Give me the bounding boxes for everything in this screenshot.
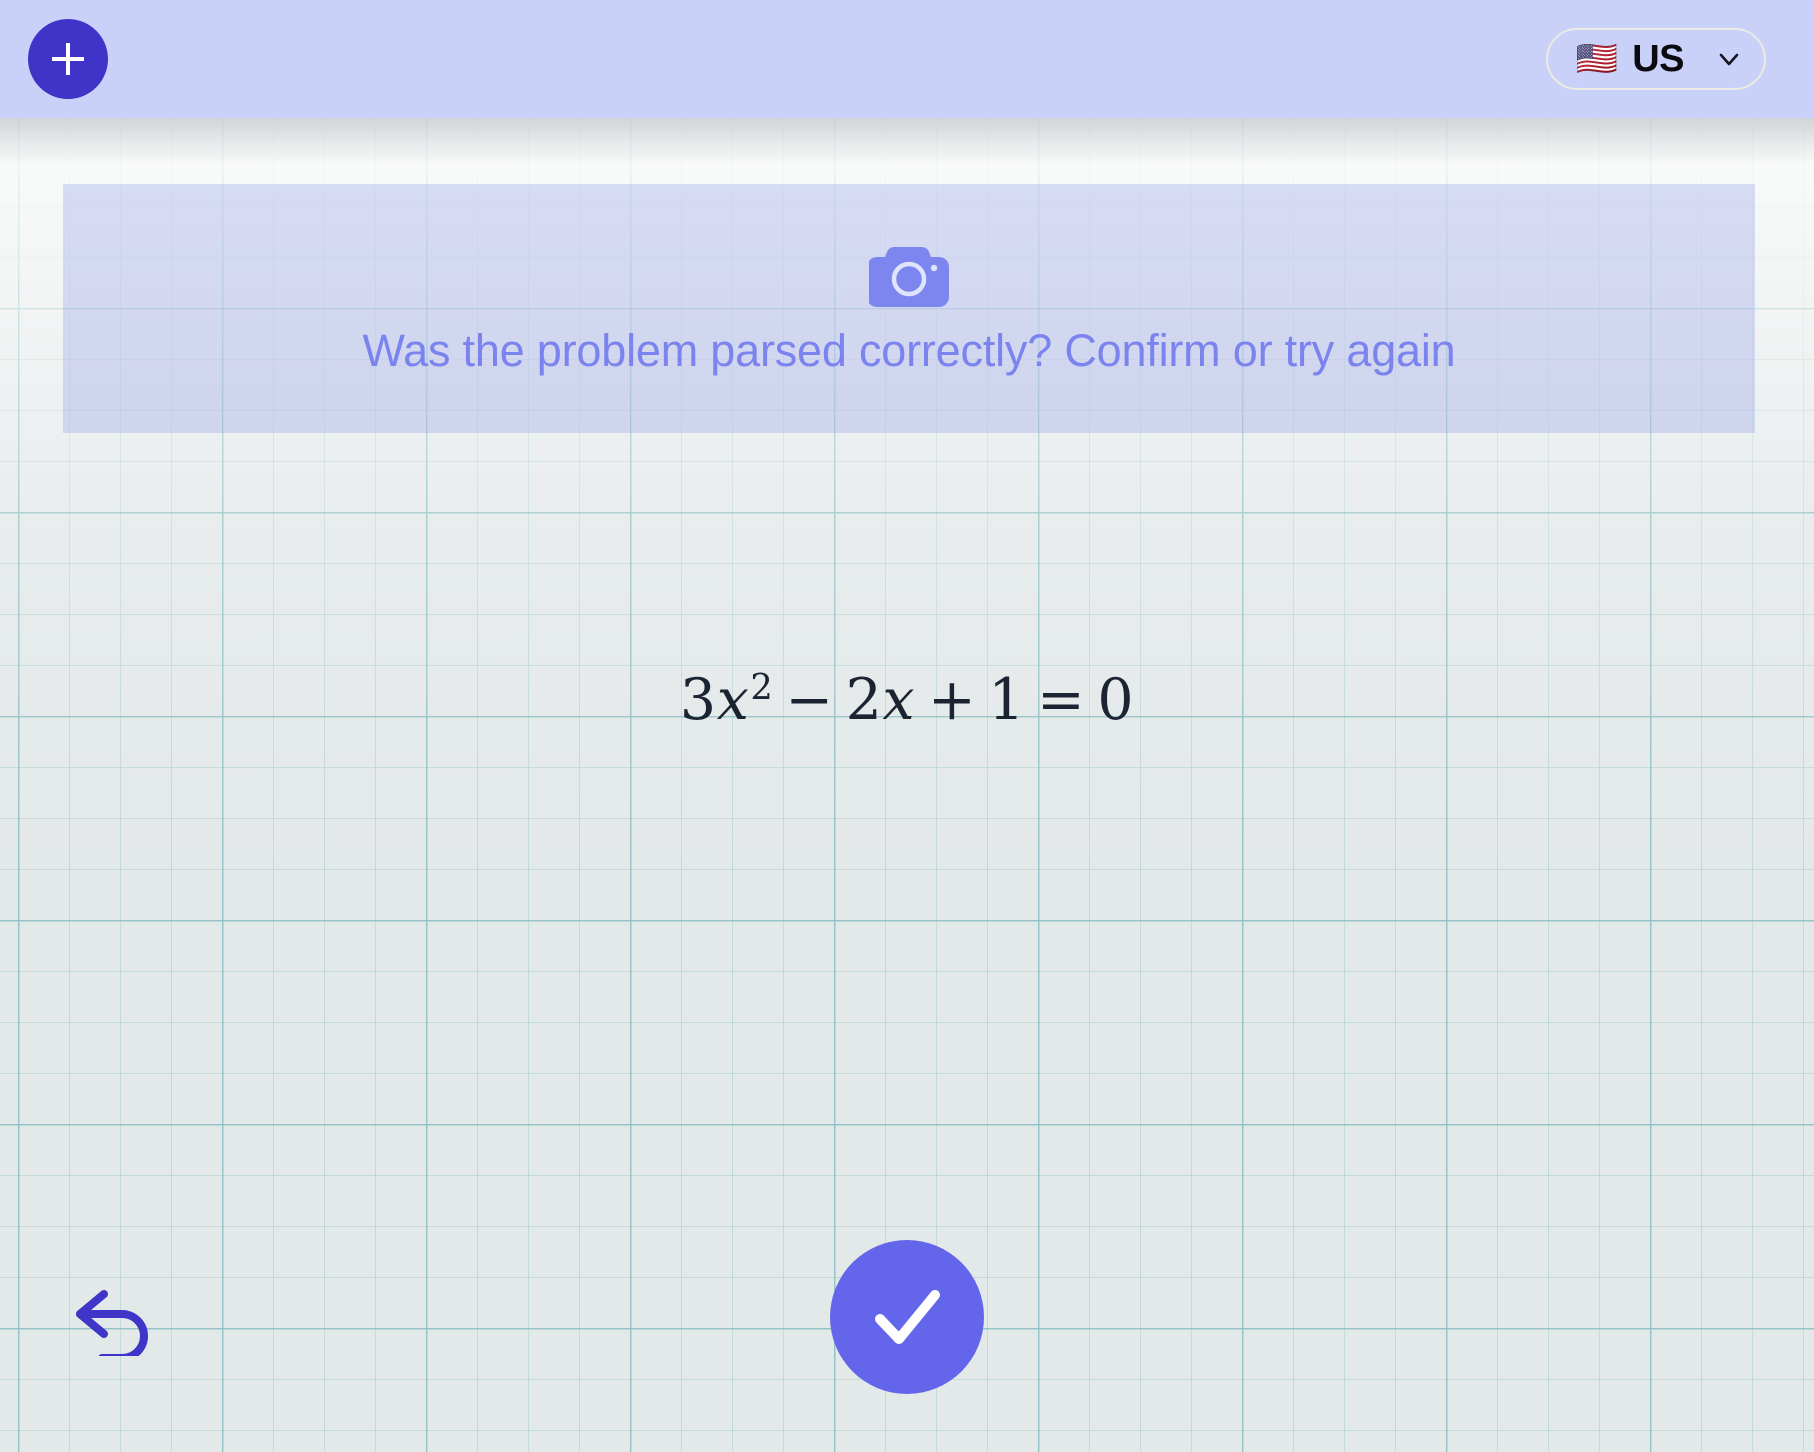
equation-equals-sign: = (1025, 667, 1097, 733)
equation-constant: 1 (988, 667, 1025, 733)
check-icon (861, 1271, 953, 1363)
add-button[interactable] (28, 19, 108, 99)
equation-operator-1: − (773, 667, 845, 733)
locale-label: US (1632, 38, 1684, 81)
banner-message: Was the problem parsed correctly? Confir… (363, 325, 1456, 377)
equation-operator-2: + (916, 667, 988, 733)
parsed-equation: 3x2−2x+1=0 (680, 667, 1134, 733)
undo-button[interactable] (68, 1272, 164, 1356)
camera-icon (869, 241, 949, 307)
equation-coefficient-b: 2 (846, 667, 883, 733)
equation-variable-a: x (717, 667, 751, 733)
undo-arrow-icon (68, 1272, 164, 1356)
confirm-button[interactable] (830, 1240, 984, 1394)
app-header: 🇺🇸 US (0, 0, 1814, 118)
equation-exponent: 2 (750, 667, 773, 708)
equation-coefficient-a: 3 (680, 667, 717, 733)
equation-rhs: 0 (1097, 667, 1134, 733)
chevron-down-icon (1716, 46, 1742, 72)
locale-selector[interactable]: 🇺🇸 US (1546, 28, 1766, 90)
us-flag-icon: 🇺🇸 (1576, 42, 1618, 76)
parse-confirmation-banner: Was the problem parsed correctly? Confir… (63, 184, 1755, 433)
app-root: 🇺🇸 US Was the problem parsed correctly? … (0, 0, 1814, 1452)
equation-variable-b: x (882, 667, 916, 733)
plus-icon (49, 40, 87, 78)
equation-area: 3x2−2x+1=0 (0, 560, 1814, 840)
